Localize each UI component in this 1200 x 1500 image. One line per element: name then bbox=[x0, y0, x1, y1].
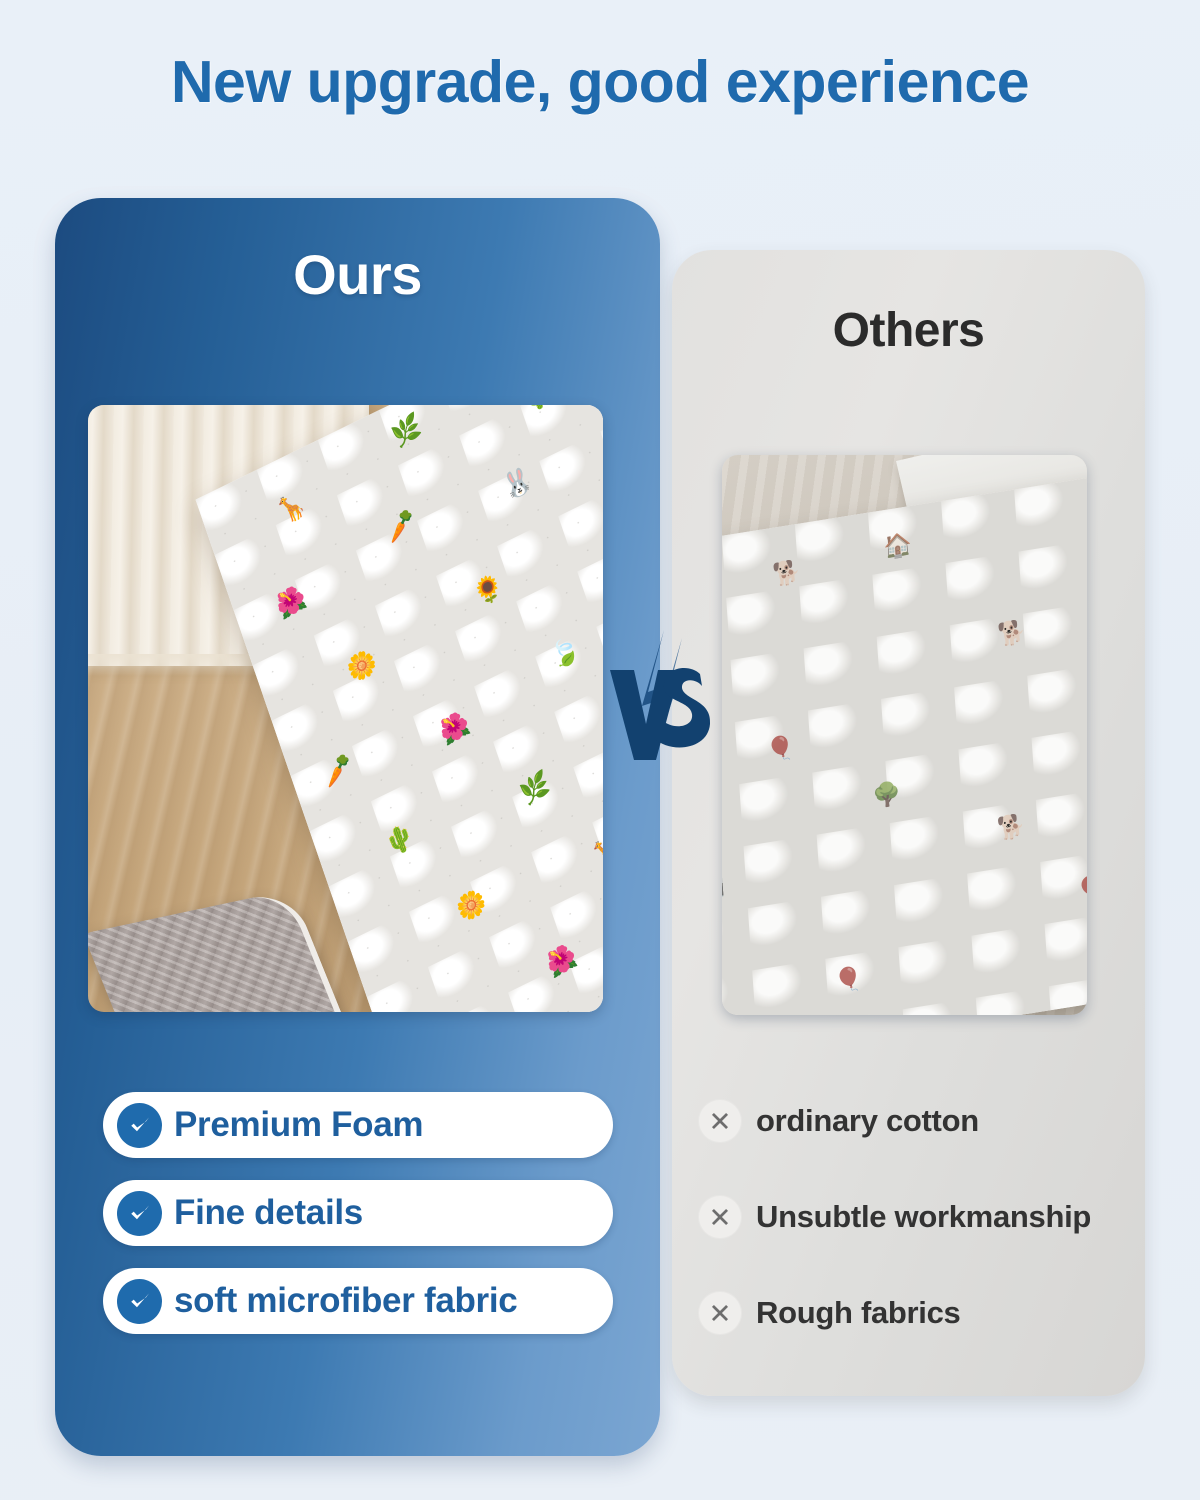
ours-feature-list: Premium Foam Fine details soft microfibe… bbox=[103, 1092, 623, 1356]
motif-dog-icon: 🐕 bbox=[772, 560, 802, 588]
ours-panel: Ours 🦒 🌿 🌵 🌺 🥕 🐰 🌵 🌼 🌻 🥕 bbox=[55, 198, 660, 1456]
motif-house-icon: 🏠 bbox=[883, 532, 913, 560]
vs-badge bbox=[604, 628, 716, 798]
check-icon bbox=[117, 1279, 162, 1324]
check-icon bbox=[117, 1103, 162, 1148]
others-drawback-list: ordinary cotton Unsubtle workmanship Rou… bbox=[698, 1092, 1138, 1380]
others-product-photo: 🐕 🏠 🌳 🐕 🏠 🎈 🌳 📷 🐕 🎈 🎈 bbox=[722, 455, 1087, 1015]
drawback-row-ordinary-cotton[interactable]: ordinary cotton bbox=[698, 1092, 1138, 1150]
comparison-infographic: New upgrade, good experience Ours 🦒 🌿 🌵 … bbox=[0, 0, 1200, 1500]
motif-dog-icon: 🐕 bbox=[997, 619, 1027, 647]
motif-dog-icon: 🐕 bbox=[996, 814, 1026, 842]
motif-balloon-icon: 🎈 bbox=[833, 966, 863, 994]
ours-photo-scene: 🦒 🌿 🌵 🌺 🥕 🐰 🌵 🌼 🌻 🥕 🥕 🌺 🍃 🌸 🌵 🌿 bbox=[88, 405, 603, 1012]
cross-icon bbox=[698, 1099, 742, 1143]
feature-pill-label: Fine details bbox=[174, 1193, 363, 1233]
cross-icon bbox=[698, 1195, 742, 1239]
motif-balloon-icon: 🎈 bbox=[765, 735, 795, 763]
others-photo-scene: 🐕 🏠 🌳 🐕 🏠 🎈 🌳 📷 🐕 🎈 🎈 bbox=[722, 455, 1087, 1015]
ours-panel-heading: Ours bbox=[55, 242, 660, 307]
drawback-row-unsubtle-workmanship[interactable]: Unsubtle workmanship bbox=[698, 1188, 1138, 1246]
quilted-mat-others: 🐕 🏠 🌳 🐕 🏠 🎈 🌳 📷 🐕 🎈 🎈 bbox=[722, 474, 1087, 1015]
feature-pill-premium-foam[interactable]: Premium Foam bbox=[103, 1092, 613, 1158]
feature-pill-label: soft microfiber fabric bbox=[174, 1281, 517, 1321]
others-panel-heading: Others bbox=[672, 303, 1145, 358]
feature-pill-fine-details[interactable]: Fine details bbox=[103, 1180, 613, 1246]
page-title: New upgrade, good experience bbox=[0, 48, 1200, 116]
cross-icon bbox=[698, 1291, 742, 1335]
drawback-row-rough-fabrics[interactable]: Rough fabrics bbox=[698, 1284, 1138, 1342]
feature-pill-label: Premium Foam bbox=[174, 1105, 423, 1145]
others-panel: Others 🐕 🏠 🌳 🐕 🏠 🎈 🌳 📷 🐕 🎈 bbox=[672, 250, 1145, 1396]
motif-tree-icon: 🌳 bbox=[872, 781, 902, 809]
check-icon bbox=[117, 1191, 162, 1236]
motif-balloon-icon: 🎈 bbox=[1076, 875, 1087, 903]
drawback-label: Rough fabrics bbox=[756, 1295, 961, 1331]
drawback-label: ordinary cotton bbox=[756, 1103, 979, 1139]
ours-product-photo: 🦒 🌿 🌵 🌺 🥕 🐰 🌵 🌼 🌻 🥕 🥕 🌺 🍃 🌸 🌵 🌿 bbox=[88, 405, 603, 1012]
feature-pill-soft-microfiber-fabric[interactable]: soft microfiber fabric bbox=[103, 1268, 613, 1334]
drawback-label: Unsubtle workmanship bbox=[756, 1199, 1091, 1235]
